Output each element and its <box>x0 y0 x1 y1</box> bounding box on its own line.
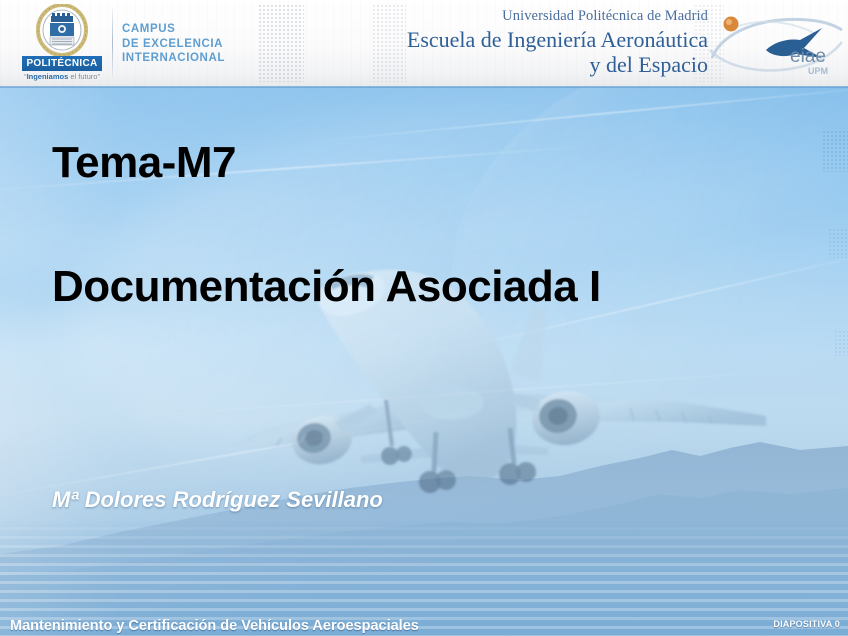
school-name-line-1: Escuela de Ingeniería Aeronáutica <box>330 27 708 52</box>
university-title-block: Universidad Politécnica de Madrid Escuel… <box>330 8 708 77</box>
eiae-logo: eiae UPM <box>704 6 844 82</box>
presentation-slide: POLITÉCNICA “Ingeniamos el futuro” CAMPU… <box>0 0 848 636</box>
campus-excellence-label: CAMPUS DE EXCELENCIA INTERNACIONAL <box>122 22 225 66</box>
upm-shield-icon <box>36 4 88 58</box>
slide-header: POLITÉCNICA “Ingeniamos el futuro” CAMPU… <box>0 0 848 86</box>
upm-logo: POLITÉCNICA “Ingeniamos el futuro” <box>16 4 108 84</box>
upm-tagline: “Ingeniamos el futuro” <box>16 72 108 81</box>
slide-subtitle: Documentación Asociada I <box>52 262 601 312</box>
slide-number-label: DIAPOSITIVA 0 <box>773 619 840 629</box>
politecnica-band: POLITÉCNICA <box>22 56 102 71</box>
campus-line-1: CAMPUS <box>122 22 225 37</box>
slide-author: Mª Dolores Rodríguez Sevillano <box>52 487 383 513</box>
header-dot-patch <box>258 4 304 82</box>
campus-line-3: INTERNACIONAL <box>122 51 225 66</box>
header-divider <box>112 8 113 78</box>
footer-course-title: Mantenimiento y Certificación de Vehícul… <box>10 618 419 634</box>
eiae-submark: UPM <box>808 66 828 76</box>
tagline-quote-close: ” <box>97 72 100 81</box>
school-name-line-2: y del Espacio <box>330 52 708 77</box>
campus-line-2: DE EXCELENCIA <box>122 37 225 52</box>
university-name: Universidad Politécnica de Madrid <box>330 8 708 25</box>
tagline-bold: Ingeniamos <box>27 72 69 81</box>
slide-title: Tema-M7 <box>52 138 236 188</box>
tagline-rest: el futuro <box>68 72 97 81</box>
eiae-wordmark: eiae <box>790 46 826 67</box>
